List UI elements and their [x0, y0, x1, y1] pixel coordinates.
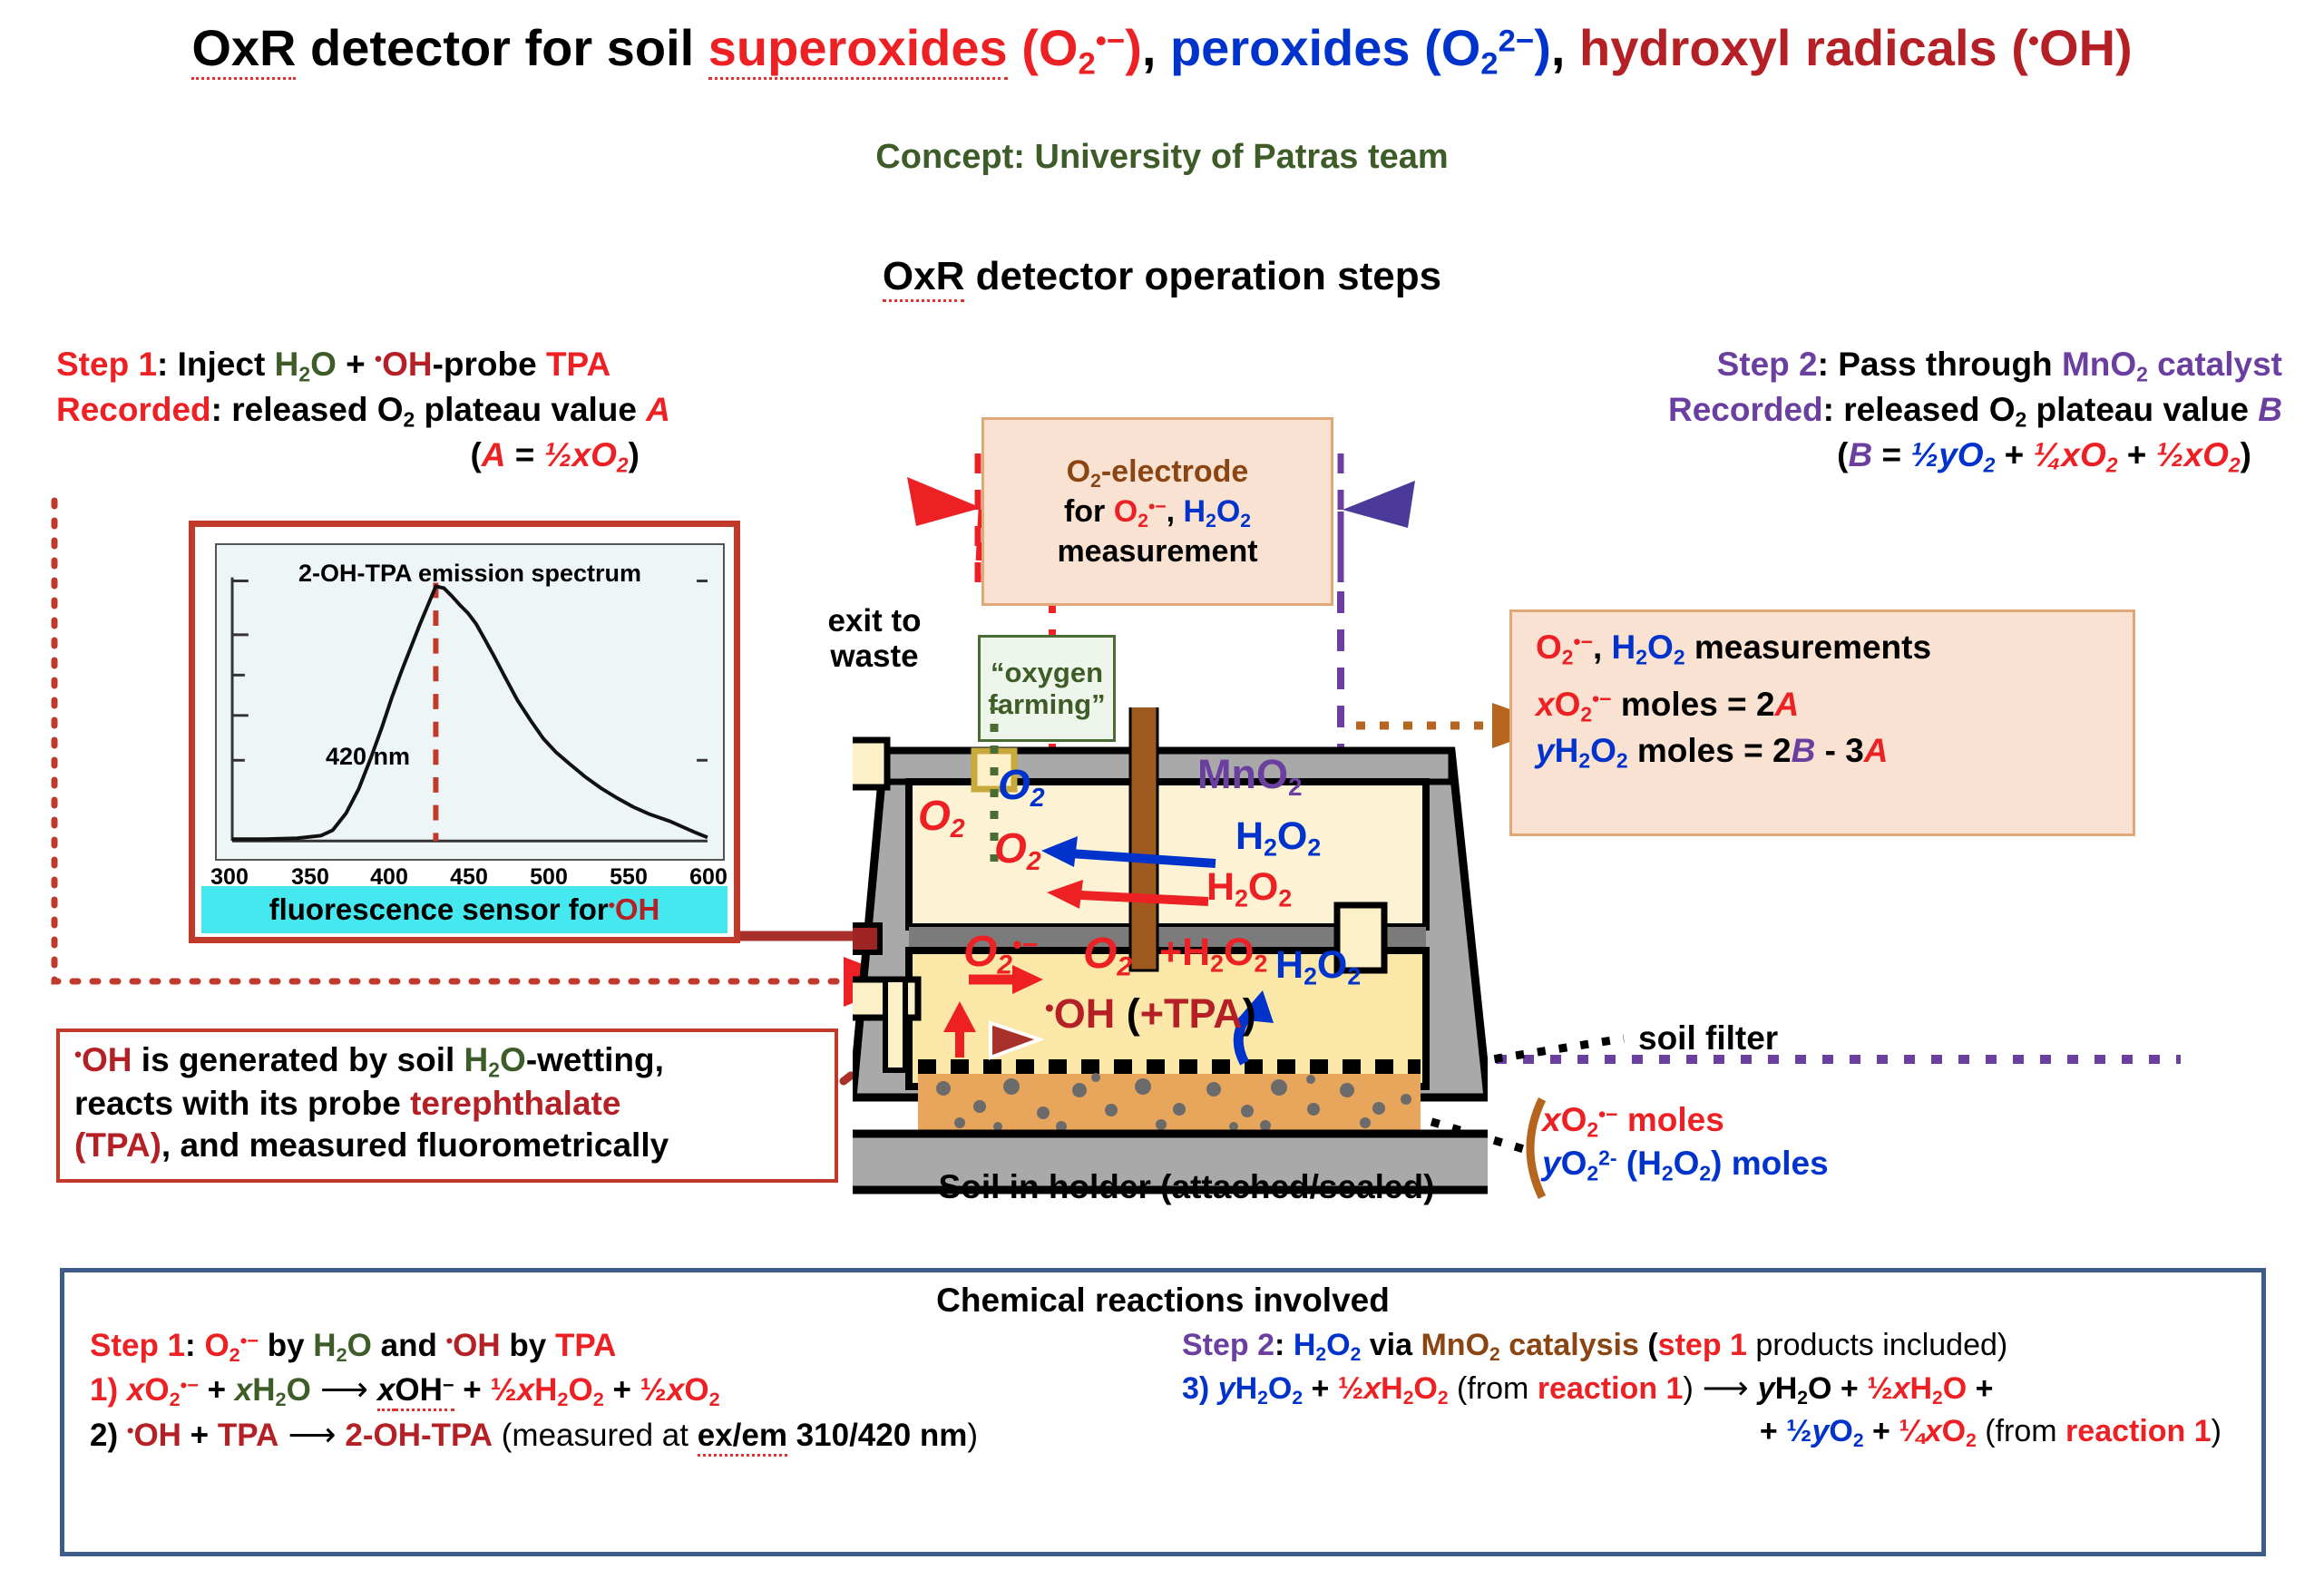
rx-reaction-3-line1: 3) yH2O2 + ½xH2O2 (from reaction 1) ⟶ yH… [1182, 1367, 2243, 1410]
title-superoxides: superoxides [708, 19, 1008, 80]
rx-left-heading: Step 1: O2•− by H2O and •OH by TPA [90, 1325, 1173, 1368]
reactions-columns: Step 1: O2•− by H2O and •OH by TPA 1) xO… [64, 1325, 2261, 1456]
reactions-title: Chemical reactions involved [64, 1282, 2261, 1320]
label-h2o2-blue-upper: H2O2 [1235, 814, 1321, 862]
sensor-caption-analyte: •OH [609, 892, 660, 927]
page-title: OxR detector for soil superoxides (O2•−)… [0, 22, 2324, 81]
lower-left-riser [885, 980, 905, 1070]
title-hydroxyl: hydroxyl radicals (•OH) [1579, 19, 2133, 76]
label-oh-tpa: •OH (+TPA) [1045, 990, 1256, 1038]
label-plus-h2o2: +H2O2 [1159, 931, 1267, 978]
step1-line1: Step 1: Inject H2O + •OH-probe TPA [56, 343, 670, 388]
electrode-line2: for O2•−, H2O2 [1064, 493, 1251, 533]
step2-line2: Recorded: released O2 plateau value B [1668, 388, 2282, 434]
ohbox-line3: (TPA), and measured fluorometrically [74, 1125, 820, 1166]
rx-reaction-3-line2: + ½yO2 + ¼xO2 (from reaction 1) [1182, 1411, 2243, 1453]
moles-line2: yO22- (H2O2) moles [1542, 1143, 1829, 1186]
meas-row1: xO2•− moles = 2A [1536, 682, 2109, 728]
chemical-reactions-box: Chemical reactions involved Step 1: O2•−… [60, 1268, 2266, 1556]
label-h2o2-blue-lower: H2O2 [1275, 943, 1361, 990]
fluorescence-spectrum-panel: 2-OH-TPA emission spectrum 420 nm 300 35… [189, 521, 740, 943]
section-title: OxR detector operation steps [0, 254, 2324, 299]
waste-exit-pipe [853, 707, 887, 787]
step1-block: Step 1: Inject H2O + •OH-probe TPA Recor… [56, 343, 670, 478]
rx-right-heading: Step 2: H2O2 via MnO2 catalysis (step 1 … [1182, 1325, 2243, 1367]
device-lid [884, 751, 1451, 782]
sensor-caption-prefix: fluorescence sensor for [269, 892, 609, 927]
label-o2-red-left: O2 [918, 791, 965, 844]
moles-line1: xO2•− moles [1542, 1099, 1829, 1143]
emission-curve [232, 586, 708, 839]
step2-line1: Step 2: Pass through MnO2 catalyst [1668, 343, 2282, 388]
rx-reaction-2: 2) •OH + TPA ⟶ 2-OH-TPA (measured at ex/… [90, 1413, 1173, 1457]
ohbox-line1: •OH is generated by soil H2O-wetting, [74, 1039, 820, 1083]
label-o2-blue: O2 [998, 760, 1045, 814]
meas-title: O2•−, H2O2 measurements [1536, 625, 2109, 671]
soil-holder-label: Soil in holder (attached/sealed) [878, 1168, 1495, 1206]
title-peroxides: peroxides (O22−) [1170, 19, 1551, 76]
label-o2-red-2: O2 [994, 824, 1041, 877]
spectrum-plot-area: 2-OH-TPA emission spectrum 420 nm [215, 543, 725, 861]
electrode-line3: measurement [1057, 533, 1257, 570]
page-subtitle: Concept: University of Patras team [0, 138, 2324, 177]
reactions-right-column: Step 2: H2O2 via MnO2 catalysis (step 1 … [1173, 1325, 2243, 1456]
step2-line3: (B = ½yO2 + ¼xO2 + ½xO2) [1668, 434, 2282, 479]
meas-row2: yH2O2 moles = 2B - 3A [1536, 728, 2109, 775]
soil-filter-label: soil filter [1638, 1019, 1778, 1058]
label-superoxide-lower: O2•− [963, 927, 1038, 980]
step1-line3: (A = ½xO2) [56, 434, 670, 479]
moles-bracket [1530, 1099, 1542, 1197]
step1-red-arrowhead [907, 477, 981, 526]
step1-line2: Recorded: released O2 plateau value A [56, 388, 670, 434]
hydroxyl-explanation-box: •OH is generated by soil H2O-wetting, re… [56, 1028, 838, 1183]
rx-reaction-1: 1) xO2•− + xH2O ⟶ xOH− + ½xH2O2 + ½xO2 [90, 1368, 1173, 1412]
measurements-callout: O2•−, H2O2 measurements xO2•− moles = 2A… [1509, 609, 2135, 836]
exit-to-waste-label: exit towaste [793, 604, 956, 674]
electrode-line1: O2-electrode [1067, 453, 1249, 493]
reactions-left-column: Step 1: O2•− by H2O and •OH by TPA 1) xO… [64, 1325, 1173, 1456]
label-mno2: MnO2 [1197, 751, 1303, 802]
title-oxr: OxR [191, 19, 296, 80]
label-o2-product-lower: O2 [1083, 929, 1132, 982]
spectrum-peak-label: 420 nm [326, 743, 410, 771]
fluorescence-sensor-caption: fluorescence sensor for •OH [201, 886, 727, 933]
step2-purple-arrowhead [1343, 481, 1415, 528]
label-h2o2-red-upper: H2O2 [1206, 865, 1292, 912]
ohbox-line2: reacts with its probe terephthalate [74, 1083, 820, 1125]
step2-block: Step 2: Pass through MnO2 catalyst Recor… [1668, 343, 2282, 478]
o2-electrode-rod [1130, 707, 1157, 970]
spectrum-svg [217, 545, 723, 859]
moles-labels: xO2•− moles yO22- (H2O2) moles [1542, 1099, 1829, 1186]
injection-port [853, 925, 880, 952]
o2-electrode-callout: O2-electrode for O2•−, H2O2 measurement [981, 417, 1333, 606]
